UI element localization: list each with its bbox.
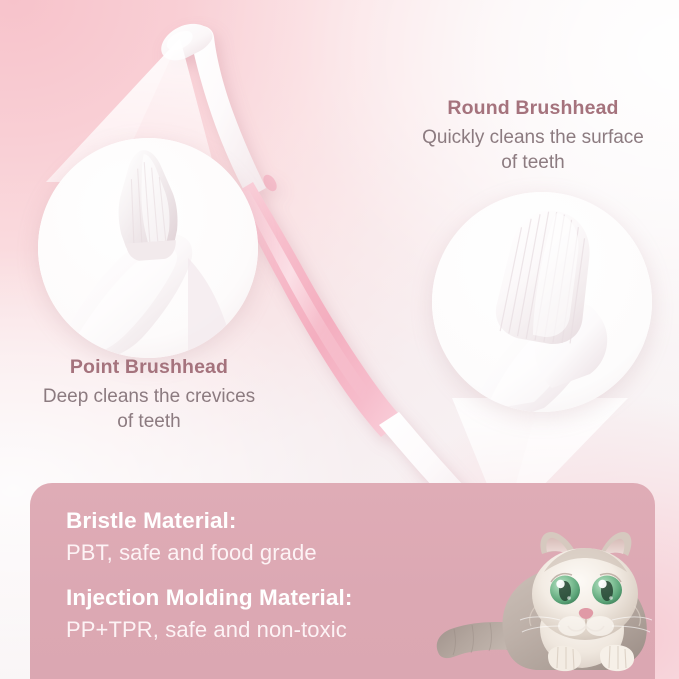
- cat-photo: [432, 516, 679, 679]
- product-infographic: Round Brushhead Quickly cleans the surfa…: [0, 0, 679, 679]
- magnifier-point-brushhead: [38, 138, 258, 358]
- callout-point-body-line2: of teeth: [4, 409, 294, 434]
- magnifier-round-brushhead: [432, 192, 652, 412]
- callout-point-body-line1: Deep cleans the crevices: [4, 384, 294, 409]
- callout-point-brushhead: Point Brushhead Deep cleans the crevices…: [4, 355, 294, 434]
- callout-round-title: Round Brushhead: [394, 96, 672, 122]
- callout-round-brushhead: Round Brushhead Quickly cleans the surfa…: [394, 96, 672, 175]
- callout-round-body-line2: of teeth: [394, 150, 672, 175]
- callout-round-body-line1: Quickly cleans the surface: [394, 125, 672, 150]
- callout-point-title: Point Brushhead: [4, 355, 294, 381]
